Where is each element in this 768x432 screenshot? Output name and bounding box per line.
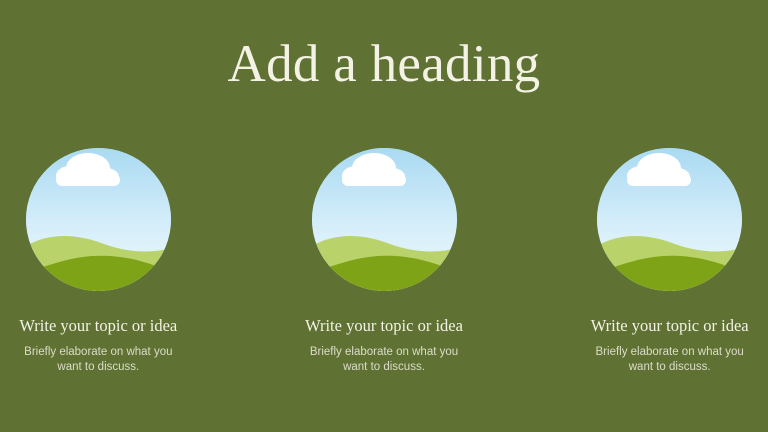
landscape-illustration — [597, 148, 742, 291]
topic-description: Briefly elaborate on what you want to di… — [590, 345, 750, 375]
topic-heading: Write your topic or idea — [19, 316, 177, 336]
landscape-svg — [312, 148, 457, 291]
landscape-illustration — [312, 148, 457, 291]
topic-description: Briefly elaborate on what you want to di… — [18, 345, 178, 375]
landscape-svg — [597, 148, 742, 291]
landscape-illustration — [26, 148, 171, 291]
content-column: Write your topic or idea Briefly elabora… — [0, 148, 197, 375]
content-column: Write your topic or idea Briefly elabora… — [286, 148, 483, 375]
page-title: Add a heading — [0, 34, 768, 94]
topic-description: Briefly elaborate on what you want to di… — [304, 345, 464, 375]
landscape-svg — [26, 148, 171, 291]
topic-heading: Write your topic or idea — [305, 316, 463, 336]
content-columns: Write your topic or idea Briefly elabora… — [0, 148, 768, 375]
slide-canvas: Add a heading — [0, 0, 768, 432]
content-column: Write your topic or idea Briefly elabora… — [571, 148, 768, 375]
topic-heading: Write your topic or idea — [591, 316, 749, 336]
